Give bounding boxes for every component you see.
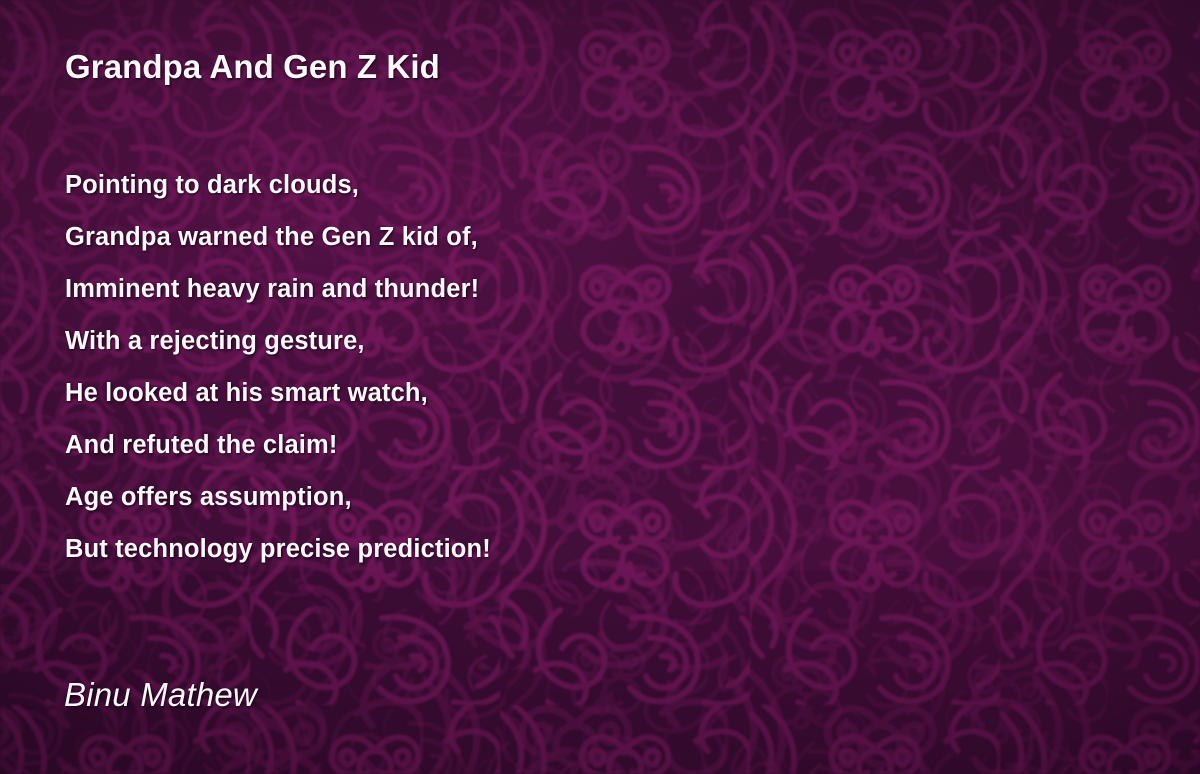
poem-content: Grandpa And Gen Z Kid Pointing to dark c… bbox=[0, 0, 1200, 774]
poem-line: But technology precise prediction! bbox=[65, 523, 491, 575]
poem-line: He looked at his smart watch, bbox=[65, 367, 491, 419]
poem-title: Grandpa And Gen Z Kid bbox=[65, 48, 440, 87]
poem-line: Age offers assumption, bbox=[65, 471, 491, 523]
poem-body: Pointing to dark clouds, Grandpa warned … bbox=[65, 159, 491, 575]
poem-line: Grandpa warned the Gen Z kid of, bbox=[65, 211, 491, 263]
poem-line: With a rejecting gesture, bbox=[65, 315, 491, 367]
poem-line: Imminent heavy rain and thunder! bbox=[65, 263, 491, 315]
poem-line: And refuted the claim! bbox=[65, 419, 491, 471]
poem-card: Grandpa And Gen Z Kid Pointing to dark c… bbox=[0, 0, 1200, 774]
poem-line: Pointing to dark clouds, bbox=[65, 159, 491, 211]
author-name: Binu Mathew bbox=[64, 676, 257, 714]
